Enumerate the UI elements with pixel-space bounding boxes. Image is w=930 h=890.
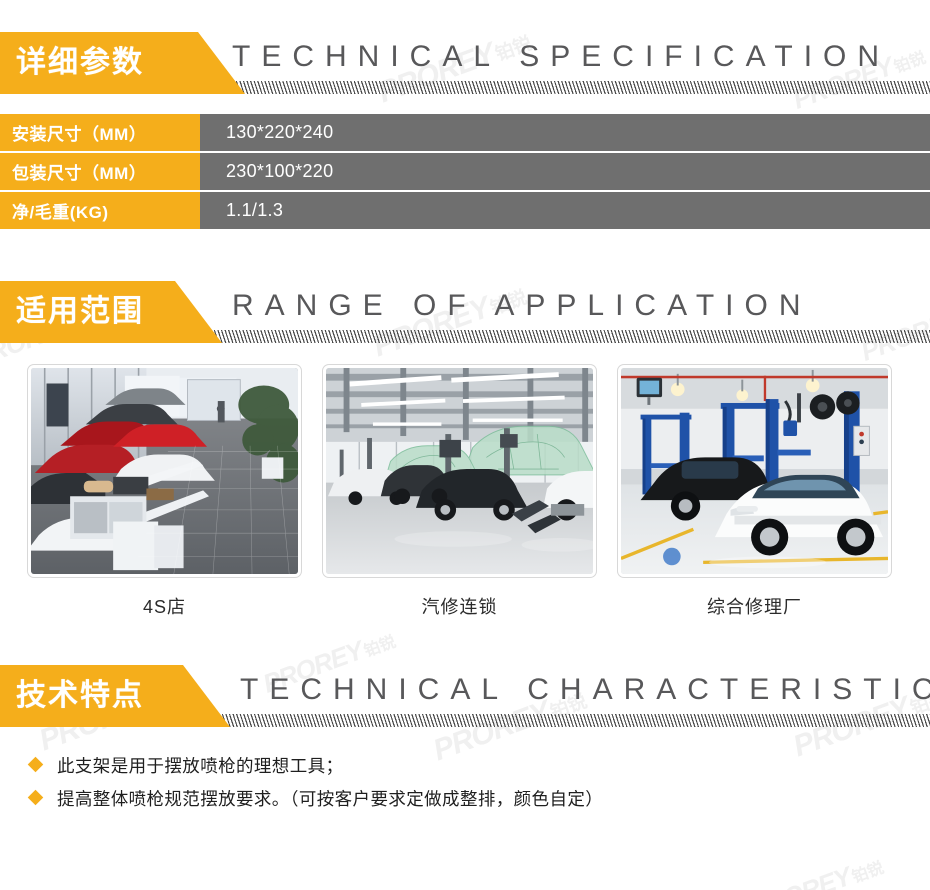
- diamond-bullet-icon: [28, 757, 44, 773]
- watermark-brand: PROREY铂锐: [747, 849, 887, 890]
- repair-chain-workshop-photo: [323, 365, 596, 577]
- gallery-item: 汽修连锁: [323, 365, 596, 619]
- section-title-cn: 技术特点: [16, 681, 144, 711]
- hatch-stripe: [172, 81, 930, 94]
- section-title-en: TECHNICAL SPECIFICATION: [232, 40, 890, 74]
- spec-value: 230*100*220: [200, 153, 930, 190]
- section-header-technical-characteristics: 技术特点 TECHNICAL CHARACTERISTICS: [0, 665, 930, 727]
- specification-table: 安装尺寸（MM） 130*220*240 包装尺寸（MM） 230*100*22…: [0, 114, 930, 229]
- gallery-caption: 综合修理厂: [618, 593, 891, 619]
- hatch-stripe: [150, 330, 930, 343]
- diamond-bullet-icon: [28, 790, 44, 806]
- feature-list: 此支架是用于摆放喷枪的理想工具； 提高整体喷枪规范摆放要求。（可按客户要求定做成…: [0, 753, 930, 813]
- general-repair-garage-photo: [618, 365, 891, 577]
- table-row: 包装尺寸（MM） 230*100*220: [0, 153, 930, 190]
- section-title-cn: 详细参数: [16, 48, 144, 78]
- gallery-item: 综合修理厂: [618, 365, 891, 619]
- gallery-item: 4S店: [28, 365, 301, 619]
- section-header-range-of-application: 适用范围 RANGE OF APPLICATION: [0, 281, 930, 343]
- application-gallery: 4S店: [0, 365, 930, 619]
- gallery-caption: 4S店: [28, 593, 301, 619]
- list-item: 此支架是用于摆放喷枪的理想工具；: [30, 753, 930, 779]
- list-item: 提高整体喷枪规范摆放要求。（可按客户要求定做成整排，颜色自定）: [30, 786, 930, 812]
- gallery-caption: 汽修连锁: [323, 593, 596, 619]
- feature-text: 此支架是用于摆放喷枪的理想工具；: [57, 753, 343, 779]
- section-band-orange: 技术特点: [0, 665, 230, 727]
- spec-label: 净/毛重(KG): [0, 192, 200, 229]
- dealership-showroom-photo: [28, 365, 301, 577]
- section-title-cn: 适用范围: [16, 297, 144, 327]
- spec-value: 1.1/1.3: [200, 192, 930, 229]
- spec-label: 安装尺寸（MM）: [0, 114, 200, 151]
- hatch-stripe: [158, 714, 930, 727]
- section-title-en: TECHNICAL CHARACTERISTICS: [240, 673, 930, 707]
- table-row: 净/毛重(KG) 1.1/1.3: [0, 192, 930, 229]
- spec-value: 130*220*240: [200, 114, 930, 151]
- table-row: 安装尺寸（MM） 130*220*240: [0, 114, 930, 151]
- section-band-orange: 适用范围: [0, 281, 222, 343]
- section-title-en: RANGE OF APPLICATION: [232, 289, 812, 323]
- section-band-orange: 详细参数: [0, 32, 245, 94]
- section-header-technical-specification: 详细参数 TECHNICAL SPECIFICATION: [0, 32, 930, 94]
- feature-text: 提高整体喷枪规范摆放要求。（可按客户要求定做成整排，颜色自定）: [57, 786, 603, 812]
- product-spec-page: PROREY铂锐 PROREY铂锐 PROREY铂锐 PROREY铂锐 PROR…: [0, 32, 930, 890]
- spec-label: 包装尺寸（MM）: [0, 153, 200, 190]
